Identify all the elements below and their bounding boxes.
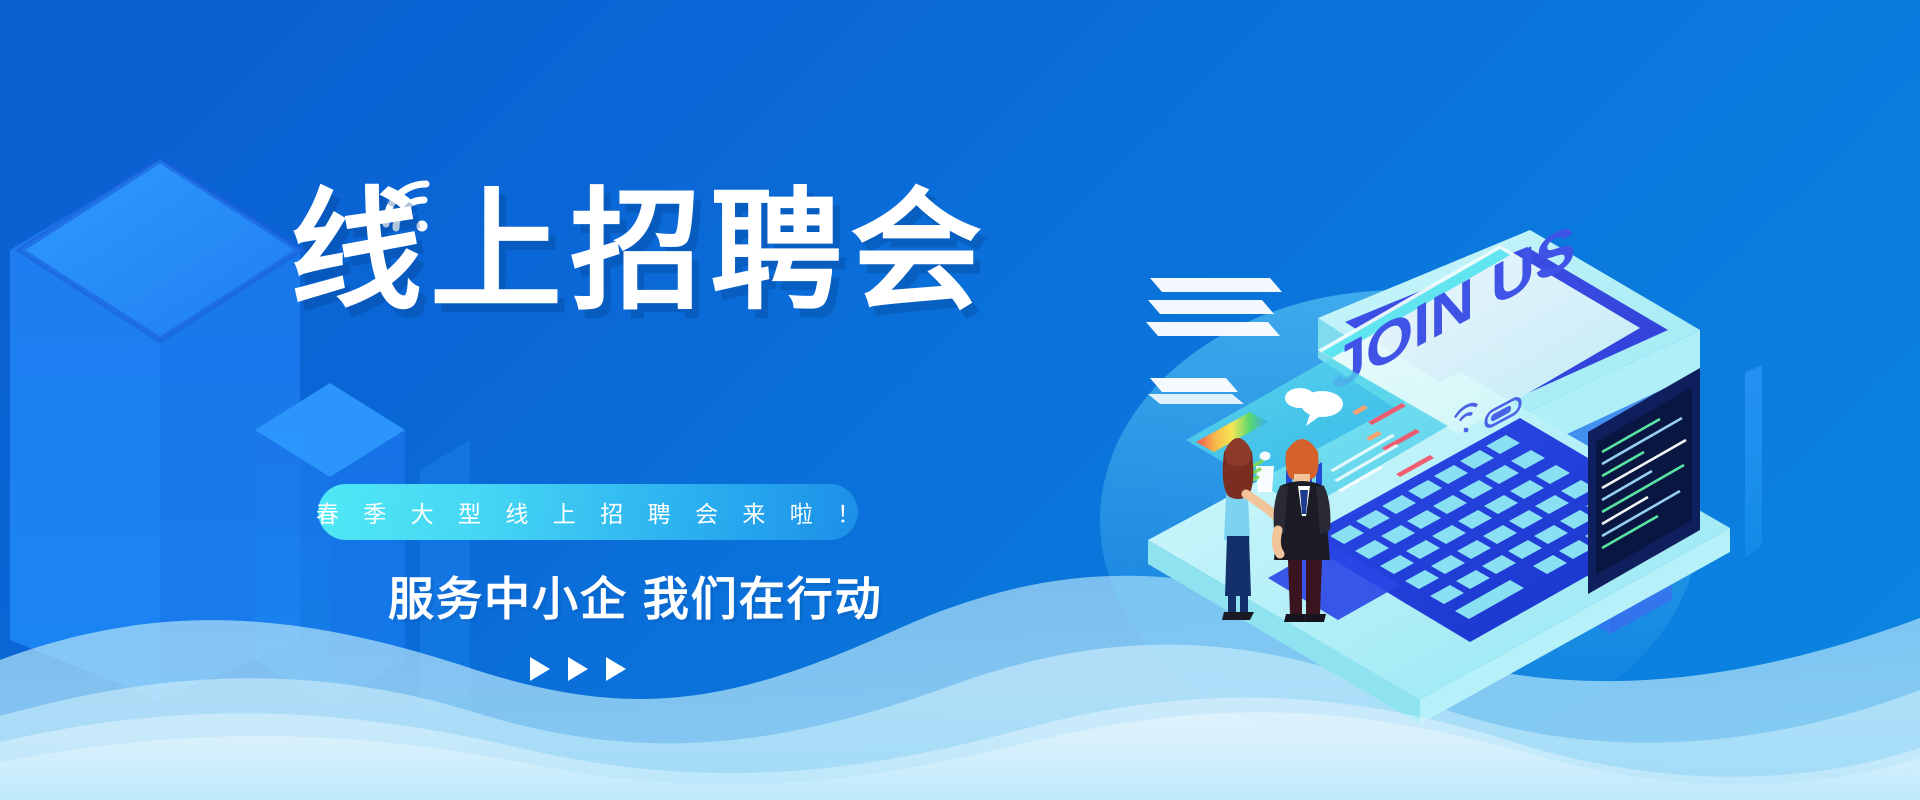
arrow-icon-1 xyxy=(530,657,550,681)
headline-group: 线上招聘会 春 季 大 型 线 上 招 聘 会 来 啦 ！ 服务中小企 我们在行… xyxy=(0,0,1100,800)
page-title: 线上招聘会 xyxy=(290,186,990,318)
arrow-icon-3 xyxy=(606,657,626,681)
subtitle-badge-label: 春 季 大 型 线 上 招 聘 会 来 啦 ！ xyxy=(307,495,869,529)
arrow-indicators xyxy=(530,657,626,681)
arrow-icon-2 xyxy=(568,657,588,681)
tagline-text: 服务中小企 我们在行动 xyxy=(388,563,883,629)
subtitle-badge: 春 季 大 型 线 上 招 聘 会 来 啦 ！ xyxy=(318,484,858,540)
online-job-fair-banner: JOIN US xyxy=(0,0,1920,800)
